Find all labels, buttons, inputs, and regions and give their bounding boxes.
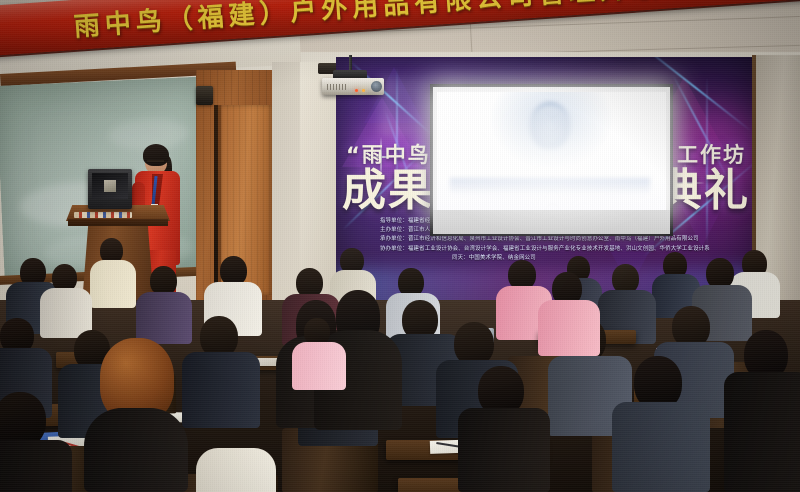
conference-hall-photo: “雨中鸟” 工作坊 成果 典礼 指导单位：福建省经济和信息化委员会 主办单位：晋… [0, 0, 800, 492]
wall-speaker-left [196, 86, 213, 105]
podium-decorative-band [74, 212, 132, 218]
projector-status-led-icon [362, 89, 365, 92]
projected-person-silhouette [530, 102, 570, 149]
projected-desk-shape [450, 178, 650, 194]
projector-lens-icon [371, 81, 382, 92]
monitor-display-icon [104, 180, 116, 192]
projector-power-led-icon [355, 89, 358, 92]
speaker-glasses-icon [147, 160, 164, 167]
projector-vent [327, 84, 347, 90]
podium-lip [68, 219, 168, 226]
projection-screen-bottom-band [433, 210, 670, 234]
mid-wall-shadow [272, 62, 300, 307]
